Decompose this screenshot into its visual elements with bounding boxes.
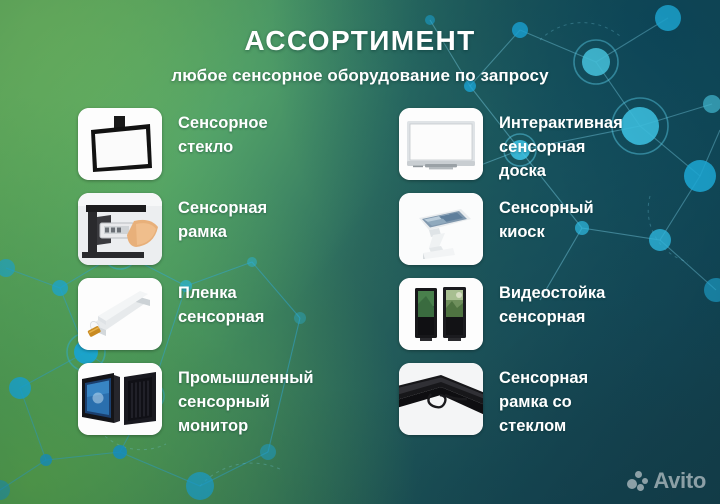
list-item-label: Пленка сенсорная: [178, 278, 264, 329]
list-item[interactable]: Интерактивная сенсорная доска: [399, 108, 720, 193]
product-column-left: Сенсорное стекло: [0, 108, 399, 468]
touch-film-roll-icon: [78, 278, 162, 350]
industrial-touch-monitor-icon: [78, 363, 162, 435]
touch-kiosk-icon: [399, 193, 483, 265]
video-totem-stand-icon: [399, 278, 483, 350]
assortment-poster: АССОРТИМЕНТ любое сенсорное оборудование…: [0, 0, 720, 504]
poster-header: АССОРТИМЕНТ любое сенсорное оборудование…: [0, 24, 720, 87]
list-item[interactable]: Пленка сенсорная: [78, 278, 399, 363]
page-subtitle: любое сенсорное оборудование по запросу: [0, 65, 720, 87]
list-item-label: Сенсорное стекло: [178, 108, 268, 159]
list-item-label: Промышленный сенсорный монитор: [178, 363, 313, 438]
product-grid: Сенсорное стекло: [0, 108, 720, 468]
list-item[interactable]: Промышленный сенсорный монитор: [78, 363, 399, 448]
touch-frame-with-glass-icon: [399, 363, 483, 435]
list-item-label: Сенсорный киоск: [499, 193, 594, 244]
page-title: АССОРТИМЕНТ: [0, 24, 720, 58]
list-item-label: Видеостойка сенсорная: [499, 278, 605, 329]
interactive-whiteboard-icon: [399, 108, 483, 180]
list-item[interactable]: Сенсорная рамка со стеклом: [399, 363, 720, 448]
touch-frame-caliper-icon: [78, 193, 162, 265]
avito-watermark-label: Avito: [653, 468, 706, 494]
list-item[interactable]: Сенсорный киоск: [399, 193, 720, 278]
list-item[interactable]: Сенсорная рамка: [78, 193, 399, 278]
list-item[interactable]: Сенсорное стекло: [78, 108, 399, 193]
touch-glass-panel-icon: [78, 108, 162, 180]
list-item-label: Интерактивная сенсорная доска: [499, 108, 623, 183]
list-item[interactable]: Видеостойка сенсорная: [399, 278, 720, 363]
list-item-label: Сенсорная рамка: [178, 193, 267, 244]
list-item-label: Сенсорная рамка со стеклом: [499, 363, 588, 438]
avito-dots-logo-icon: [627, 470, 649, 492]
product-column-right: Интерактивная сенсорная доска: [399, 108, 720, 468]
avito-watermark: Avito: [627, 468, 706, 494]
